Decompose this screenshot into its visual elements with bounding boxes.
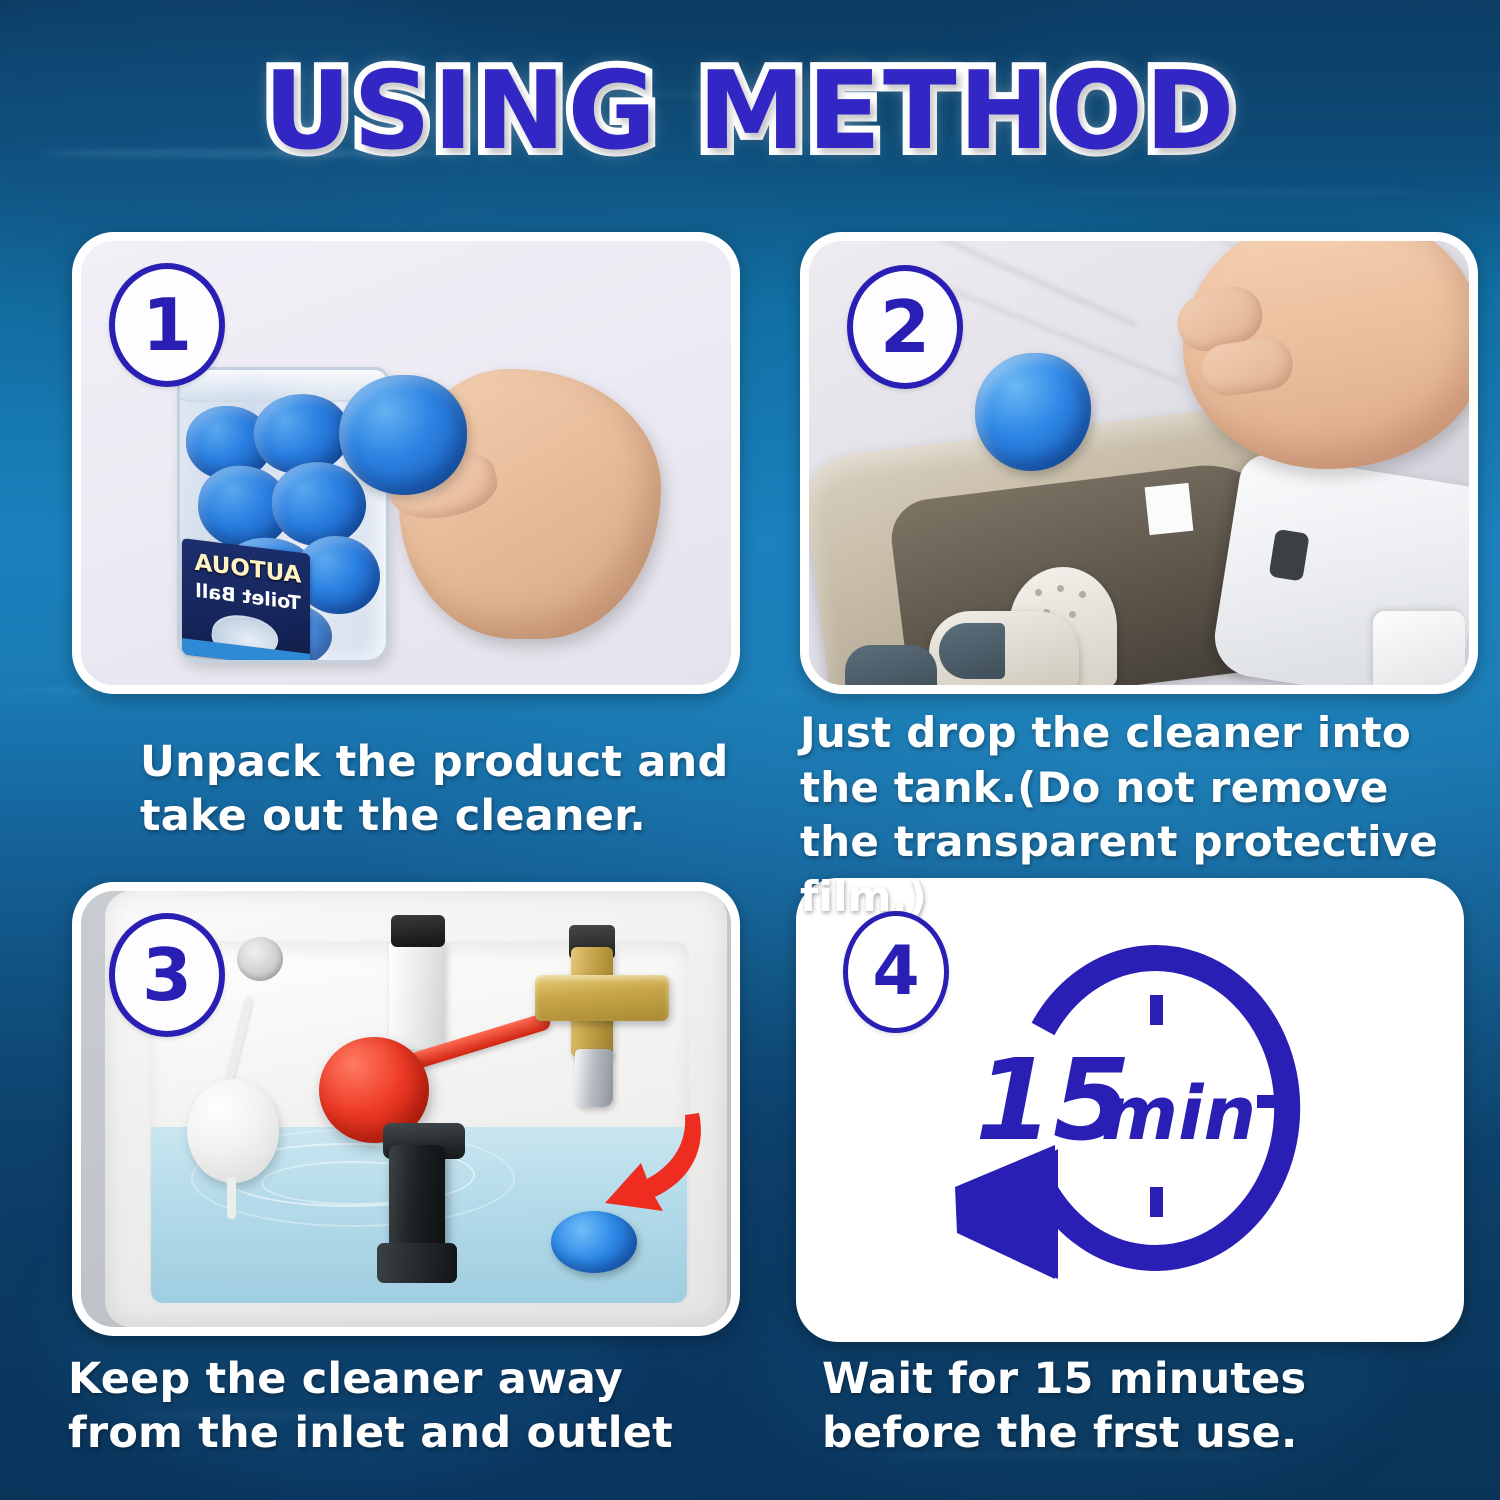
infographic-poster: USING METHOD AUTOUA Toilet Ball bbox=[0, 0, 1500, 1500]
red-arrow-icon bbox=[581, 1107, 711, 1217]
tank-tag bbox=[1145, 483, 1194, 535]
step-number-badge-3: 3 bbox=[109, 913, 225, 1037]
timer-unit: min bbox=[1101, 1071, 1256, 1157]
step-caption-2: Just drop the cleaner into the tank.(Do … bbox=[800, 706, 1480, 924]
step-caption-4: Wait for 15 minutes before the frst use. bbox=[822, 1352, 1472, 1460]
step-number-badge-2: 2 bbox=[847, 265, 963, 389]
step-caption-1: Unpack the product and take out the clea… bbox=[140, 735, 740, 843]
brass-valve bbox=[535, 975, 669, 1021]
overflow-valve bbox=[845, 645, 937, 691]
step-caption-3: Keep the cleaner away from the inlet and… bbox=[68, 1352, 748, 1460]
product-label: AUTOUA Toilet Ball bbox=[182, 538, 310, 663]
step-number-badge-4: 4 bbox=[843, 911, 949, 1033]
paper-roll bbox=[1373, 611, 1465, 689]
page-title-container: USING METHOD bbox=[0, 58, 1500, 166]
cleaner-tablet bbox=[551, 1211, 637, 1273]
cleaner-tablet bbox=[339, 375, 467, 495]
hand bbox=[1183, 232, 1478, 469]
step-number-badge-1: 1 bbox=[109, 263, 225, 387]
step-card-1: AUTOUA Toilet Ball 1 bbox=[72, 232, 740, 694]
step-card-4: 15 min 4 bbox=[796, 878, 1464, 1342]
chrome-fitting bbox=[575, 1049, 613, 1107]
inlet-pipe bbox=[389, 939, 445, 1049]
step-card-3: 3 bbox=[72, 882, 740, 1336]
tank-screw bbox=[237, 937, 283, 981]
step-card-2: 2 bbox=[800, 232, 1478, 694]
flush-valve bbox=[929, 611, 1079, 687]
page-title: USING METHOD bbox=[263, 58, 1236, 166]
white-float-ball bbox=[187, 1079, 279, 1183]
